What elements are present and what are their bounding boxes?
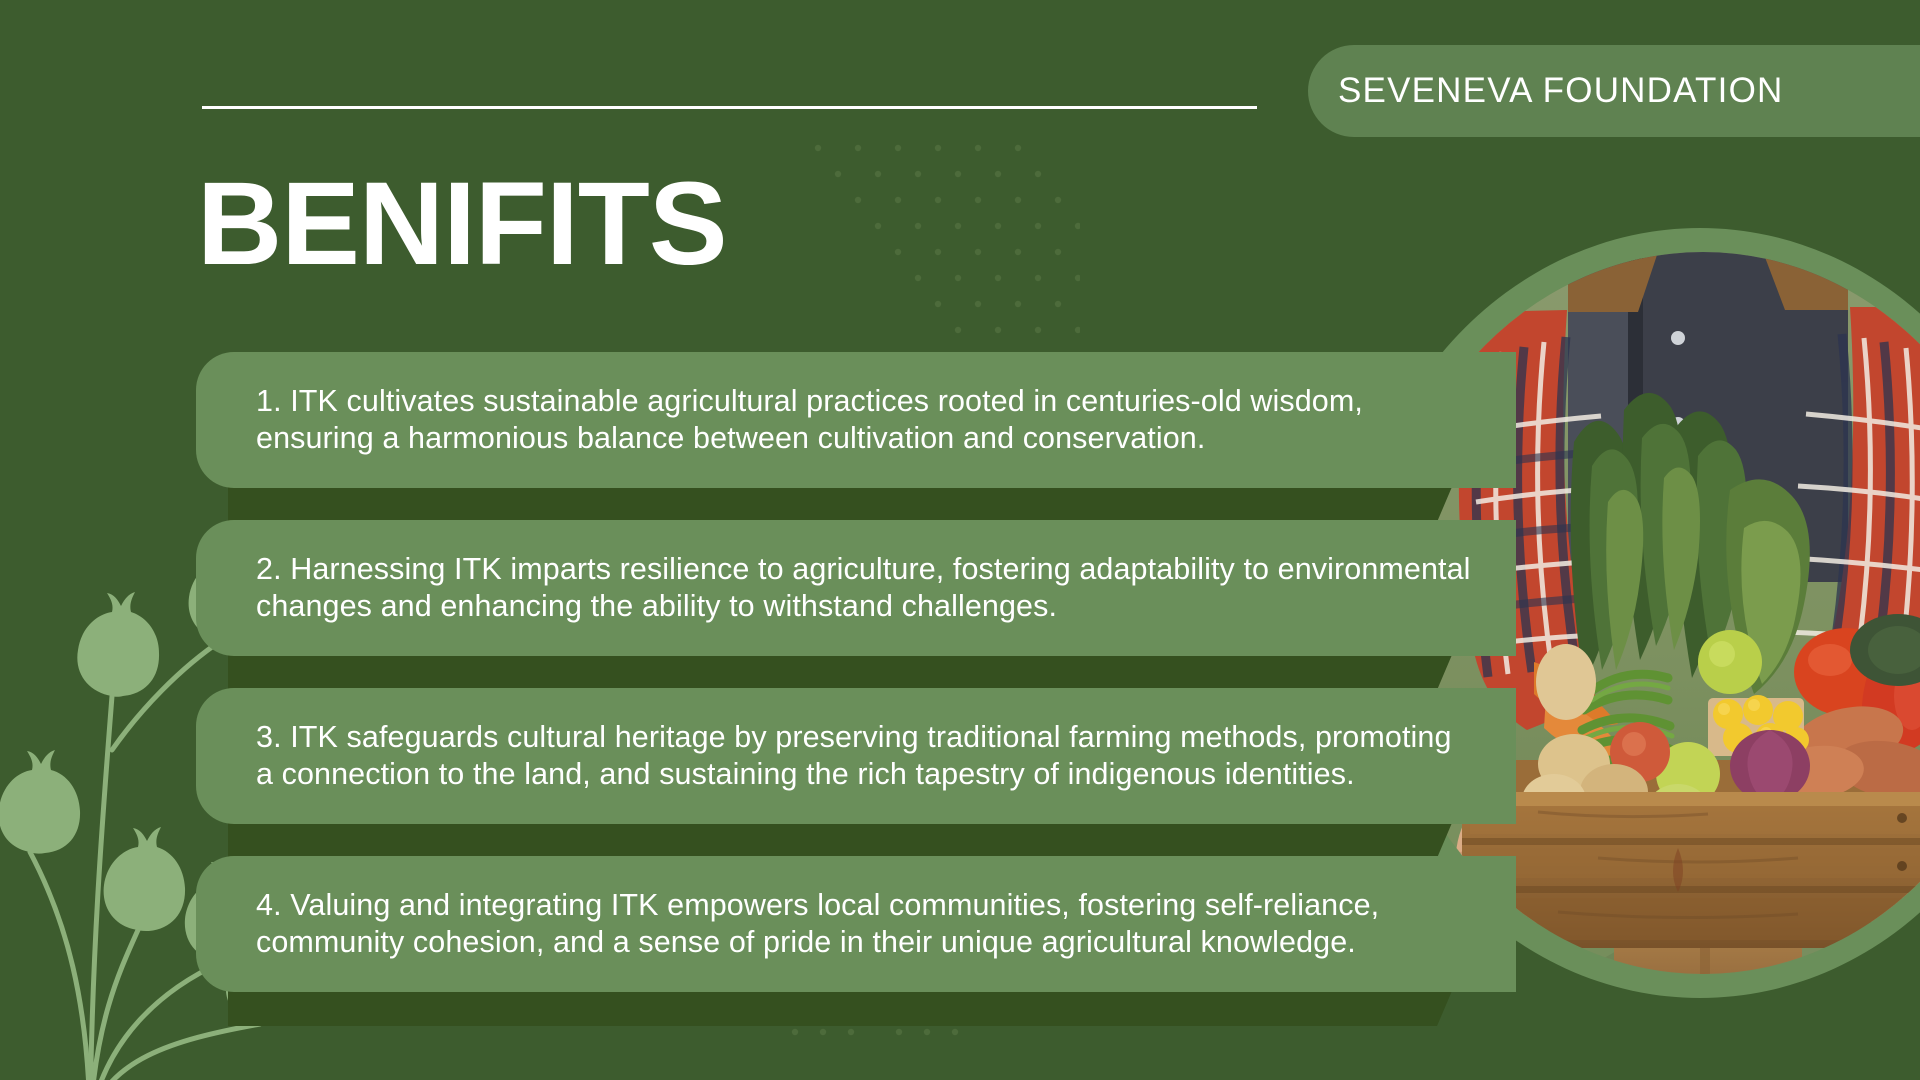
benefit-text-3: 3. ITK safeguards cultural heritage by p… — [256, 719, 1476, 793]
benefit-text-2: 2. Harnessing ITK imparts resilience to … — [256, 551, 1476, 625]
slide-canvas: SEVENEVA FOUNDATION BENIFITS — [0, 0, 1920, 1080]
benefit-text-4: 4. Valuing and integrating ITK empowers … — [256, 887, 1476, 961]
benefit-card-body-4: 4. Valuing and integrating ITK empowers … — [196, 856, 1516, 992]
benefit-card-body-2: 2. Harnessing ITK imparts resilience to … — [196, 520, 1516, 656]
benefits-card-list: 1. ITK cultivates sustainable agricultur… — [0, 0, 1920, 1080]
benefit-text-1: 1. ITK cultivates sustainable agricultur… — [256, 383, 1476, 457]
benefit-card-body-3: 3. ITK safeguards cultural heritage by p… — [196, 688, 1516, 824]
benefit-card-body-1: 1. ITK cultivates sustainable agricultur… — [196, 352, 1516, 488]
